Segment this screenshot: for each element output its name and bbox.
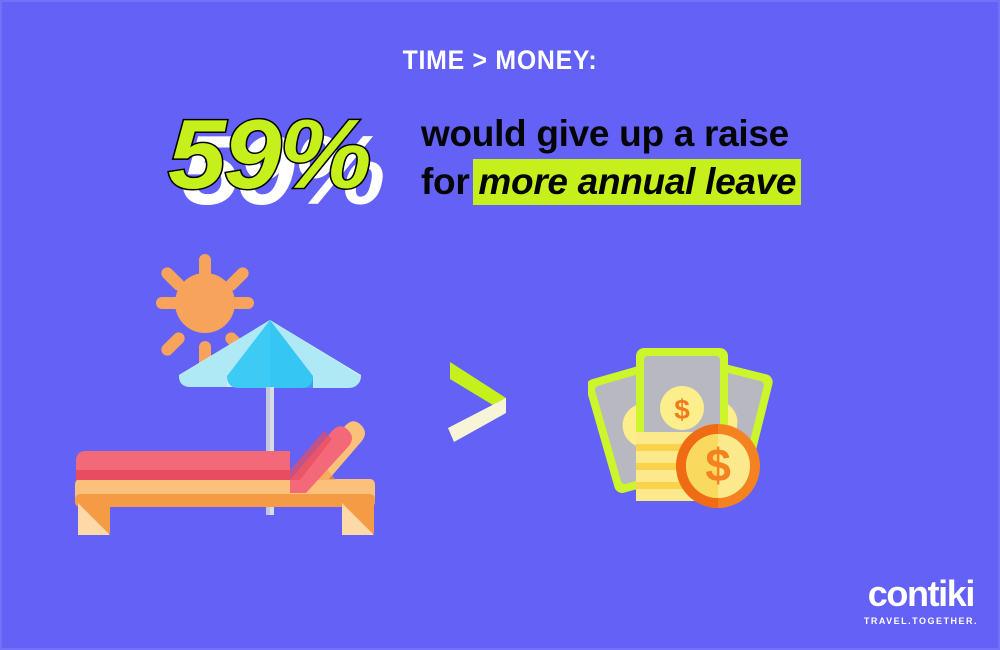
- infographic-poster: TIME > MONEY: 59% 59% would give up a ra…: [0, 0, 1000, 650]
- sun-lounger-illustration: [60, 248, 405, 538]
- headline-line-2: formore annual leave: [421, 160, 861, 204]
- dollar-coin-icon: $: [676, 424, 760, 508]
- coin-dollar-symbol: $: [705, 439, 731, 491]
- percent-statistic: 59% 59%: [168, 104, 418, 212]
- cash-and-coins-illustration: $ $ $: [588, 328, 778, 513]
- svg-text:$: $: [674, 394, 690, 425]
- headline-line-2-prefix: for: [421, 161, 469, 202]
- headline-highlight: more annual leave: [473, 159, 801, 205]
- logo-tagline: TRAVEL.TOGETHER.: [864, 614, 978, 628]
- percent-value: 59%: [168, 104, 370, 204]
- eyebrow-text: TIME > MONEY:: [40, 45, 960, 76]
- headline-line-1: would give up a raise: [421, 112, 861, 156]
- contiki-logo: contiki TRAVEL.TOGETHER.: [864, 576, 978, 628]
- headline-phrase: would give up a raise formore annual lea…: [421, 112, 861, 204]
- greater-than-separator: [440, 358, 522, 444]
- logo-wordmark: contiki: [864, 576, 978, 612]
- headline-block: 59% 59% would give up a raise formore an…: [168, 104, 868, 214]
- chevron-bottom-stroke: [448, 398, 506, 442]
- sun-disc-icon: [175, 273, 235, 333]
